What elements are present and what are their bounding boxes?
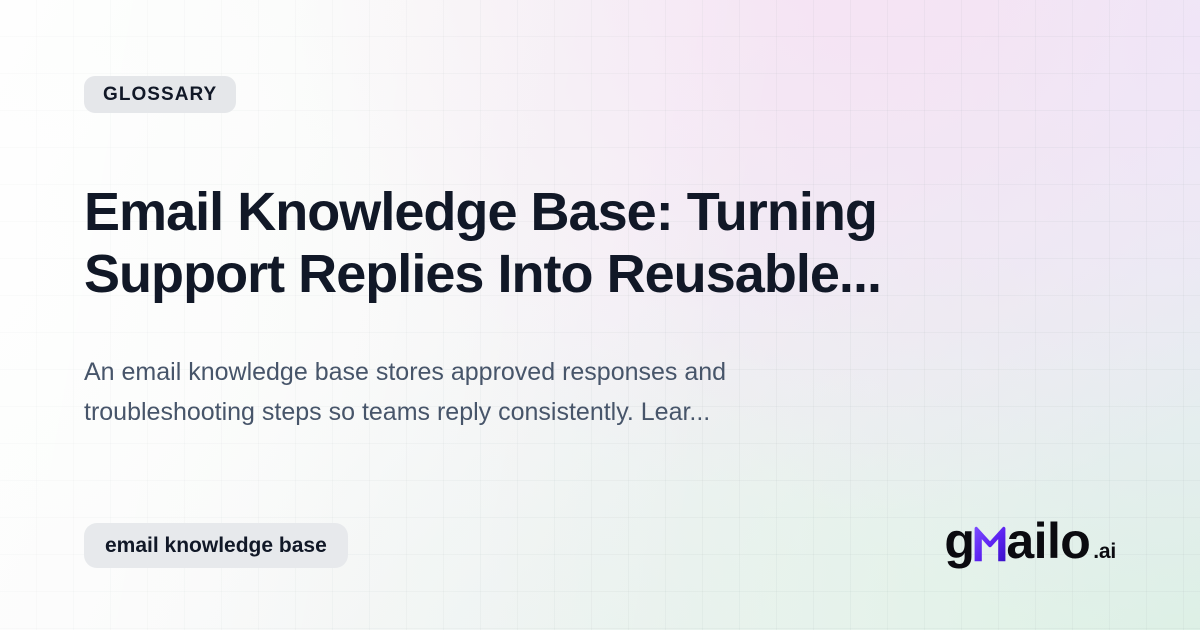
brand-tld-text: .ai (1093, 541, 1116, 562)
eyebrow-row: GLOSSARY (84, 76, 1116, 113)
envelope-m-icon (973, 526, 1007, 562)
category-badge: GLOSSARY (84, 76, 236, 113)
brand-lead-text: g (944, 516, 974, 566)
card-content: GLOSSARY Email Knowledge Base: Turning S… (0, 0, 1200, 630)
card-footer: email knowledge base g (84, 518, 1116, 568)
keyword-tag: email knowledge base (84, 523, 348, 568)
brand-logo: g ailo .ai (944, 516, 1116, 566)
og-card: GLOSSARY Email Knowledge Base: Turning S… (0, 0, 1200, 630)
brand-trail-text: ailo (1006, 516, 1090, 566)
page-title: Email Knowledge Base: Turning Support Re… (84, 113, 1004, 306)
page-description: An email knowledge base stores approved … (84, 306, 884, 433)
